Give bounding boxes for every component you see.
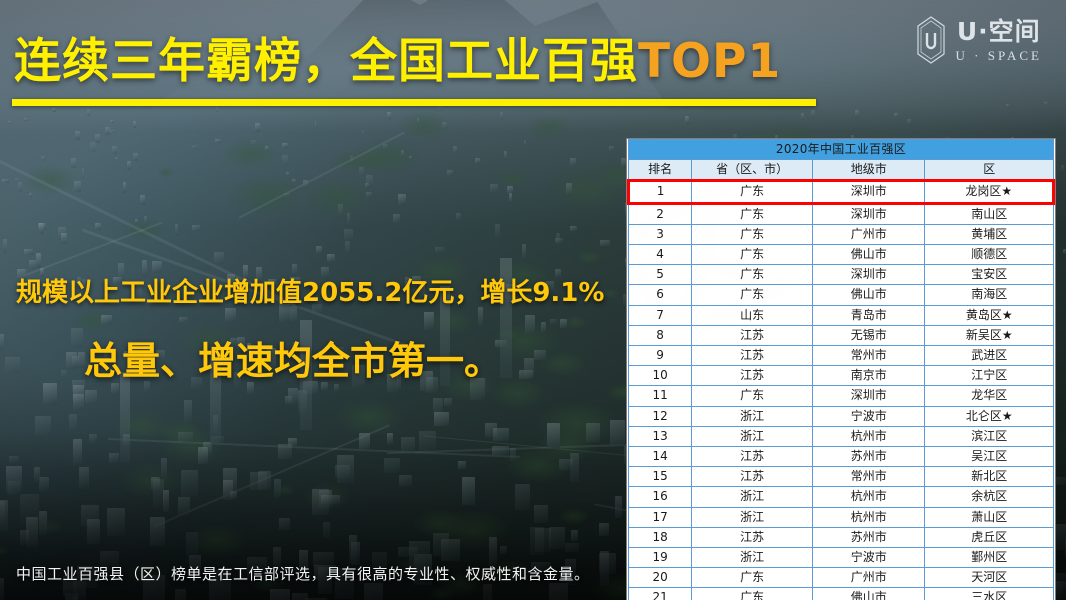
cell-rank: 10	[629, 366, 692, 386]
cell-rank: 16	[629, 487, 692, 507]
cell-district: 黄岛区★	[925, 305, 1054, 325]
rank-table-container: 区 2020年中国工业百强区 排名 省（区、市） 地级市 区 1广东深圳市龙岗区…	[626, 138, 1056, 600]
cell-city: 深圳市	[813, 203, 925, 224]
cell-city: 青岛市	[813, 305, 925, 325]
cell-district: 南山区	[925, 203, 1054, 224]
cell-district: 虎丘区	[925, 527, 1054, 547]
table-row: 9江苏常州市武进区	[629, 346, 1054, 366]
u-space-monogram-icon	[916, 16, 946, 64]
cell-rank: 17	[629, 507, 692, 527]
cell-province: 广东	[692, 181, 813, 203]
page-title-accent: TOP1	[638, 34, 781, 89]
cell-province: 广东	[692, 568, 813, 588]
cell-province: 山东	[692, 305, 813, 325]
cell-rank: 19	[629, 548, 692, 568]
cell-rank: 11	[629, 386, 692, 406]
stat-emphasis: 总量、增速均全市第一。	[84, 330, 502, 385]
cell-district: 江宁区	[925, 366, 1054, 386]
cell-city: 杭州市	[813, 426, 925, 446]
cell-rank: 21	[629, 588, 692, 600]
table-row: 10江苏南京市江宁区	[629, 366, 1054, 386]
cell-province: 江苏	[692, 325, 813, 345]
cell-rank: 12	[629, 406, 692, 426]
table-row: 11广东深圳市龙华区	[629, 386, 1054, 406]
cell-district: 鄞州区	[925, 548, 1054, 568]
column-header-rank: 排名	[629, 160, 692, 181]
cell-rank: 5	[629, 265, 692, 285]
slide-root: 连续三年霸榜，全国工业百强TOP1 U·空间 U · SPACE 规模以上工业企…	[0, 0, 1066, 600]
cell-district: 武进区	[925, 346, 1054, 366]
cell-district: 新吴区★	[925, 325, 1054, 345]
cell-province: 浙江	[692, 426, 813, 446]
cell-district: 三水区	[925, 588, 1054, 600]
cell-district: 顺德区	[925, 245, 1054, 265]
cell-district: 宝安区	[925, 265, 1054, 285]
cell-city: 深圳市	[813, 265, 925, 285]
table-row: 8江苏无锡市新吴区★	[629, 325, 1054, 345]
table-row: 16浙江杭州市余杭区	[629, 487, 1054, 507]
table-row: 21广东佛山市三水区	[629, 588, 1054, 600]
cell-district: 天河区	[925, 568, 1054, 588]
column-header-city: 地级市	[813, 160, 925, 181]
cell-city: 佛山市	[813, 245, 925, 265]
cell-province: 江苏	[692, 467, 813, 487]
cell-city: 宁波市	[813, 406, 925, 426]
column-header-district: 区	[925, 160, 1054, 181]
table-row: 3广东广州市黄埔区	[629, 224, 1054, 244]
cell-rank: 20	[629, 568, 692, 588]
cell-rank: 1	[629, 181, 692, 203]
stat-headline: 规模以上工业企业增加值2055.2亿元，增长9.1%	[16, 272, 604, 309]
table-row: 13浙江杭州市滨江区	[629, 426, 1054, 446]
cell-district: 南海区	[925, 285, 1054, 305]
cell-city: 无锡市	[813, 325, 925, 345]
cell-rank: 18	[629, 527, 692, 547]
cell-province: 广东	[692, 203, 813, 224]
cell-province: 江苏	[692, 527, 813, 547]
cell-rank: 6	[629, 285, 692, 305]
cell-province: 江苏	[692, 346, 813, 366]
cell-city: 广州市	[813, 568, 925, 588]
table-row: 12浙江宁波市北仑区★	[629, 406, 1054, 426]
cell-district: 北仑区★	[925, 406, 1054, 426]
cell-province: 浙江	[692, 548, 813, 568]
table-row: 17浙江杭州市萧山区	[629, 507, 1054, 527]
cell-city: 深圳市	[813, 386, 925, 406]
cell-district: 龙岗区★	[925, 181, 1054, 203]
cell-city: 深圳市	[813, 181, 925, 203]
brand-logo: U·空间 U · SPACE	[916, 16, 1042, 64]
cell-province: 江苏	[692, 447, 813, 467]
table-header-row: 排名 省（区、市） 地级市 区	[629, 160, 1054, 181]
cell-city: 南京市	[813, 366, 925, 386]
cell-province: 江苏	[692, 366, 813, 386]
table-row: 4广东佛山市顺德区	[629, 245, 1054, 265]
cell-district: 余杭区	[925, 487, 1054, 507]
cell-rank: 4	[629, 245, 692, 265]
brand-logo-text: U·空间 U · SPACE	[956, 19, 1042, 62]
brand-name-cn: U·空间	[956, 19, 1042, 44]
cell-province: 浙江	[692, 507, 813, 527]
footnote-caption: 中国工业百强县（区）榜单是在工信部评选，具有很高的专业性、权威性和含金量。	[16, 563, 590, 584]
cell-city: 杭州市	[813, 507, 925, 527]
cell-province: 广东	[692, 588, 813, 600]
table-row: 7山东青岛市黄岛区★	[629, 305, 1054, 325]
cell-rank: 14	[629, 447, 692, 467]
cell-district: 萧山区	[925, 507, 1054, 527]
cell-rank: 15	[629, 467, 692, 487]
cell-city: 苏州市	[813, 447, 925, 467]
brand-name-en: U · SPACE	[956, 49, 1042, 62]
cell-city: 佛山市	[813, 285, 925, 305]
cell-city: 常州市	[813, 467, 925, 487]
cell-rank: 2	[629, 203, 692, 224]
cell-rank: 8	[629, 325, 692, 345]
table-title-cell: 2020年中国工业百强区	[629, 140, 1054, 160]
cell-city: 杭州市	[813, 487, 925, 507]
page-title-main: 连续三年霸榜，全国工业百强	[14, 34, 638, 89]
cell-rank: 9	[629, 346, 692, 366]
column-header-province: 省（区、市）	[692, 160, 813, 181]
cell-province: 广东	[692, 285, 813, 305]
cell-rank: 7	[629, 305, 692, 325]
table-row: 19浙江宁波市鄞州区	[629, 548, 1054, 568]
cell-district: 滨江区	[925, 426, 1054, 446]
cell-province: 浙江	[692, 406, 813, 426]
cell-city: 广州市	[813, 224, 925, 244]
table-row: 15江苏常州市新北区	[629, 467, 1054, 487]
cell-city: 常州市	[813, 346, 925, 366]
table-row: 18江苏苏州市虎丘区	[629, 527, 1054, 547]
cell-province: 浙江	[692, 487, 813, 507]
cell-province: 广东	[692, 265, 813, 285]
cell-district: 黄埔区	[925, 224, 1054, 244]
title-underline-rule	[12, 99, 816, 106]
table-row: 6广东佛山市南海区	[629, 285, 1054, 305]
cell-city: 苏州市	[813, 527, 925, 547]
table-row-highlighted: 1广东深圳市龙岗区★	[629, 181, 1054, 203]
cell-district: 新北区	[925, 467, 1054, 487]
table-row: 2广东深圳市南山区	[629, 203, 1054, 224]
cell-province: 广东	[692, 224, 813, 244]
rank-table: 2020年中国工业百强区 排名 省（区、市） 地级市 区 1广东深圳市龙岗区★2…	[627, 139, 1055, 600]
table-row: 20广东广州市天河区	[629, 568, 1054, 588]
cell-district: 吴江区	[925, 447, 1054, 467]
cell-district: 龙华区	[925, 386, 1054, 406]
cell-rank: 3	[629, 224, 692, 244]
cell-province: 广东	[692, 245, 813, 265]
cell-rank: 13	[629, 426, 692, 446]
cell-city: 佛山市	[813, 588, 925, 600]
cell-city: 宁波市	[813, 548, 925, 568]
table-row: 5广东深圳市宝安区	[629, 265, 1054, 285]
page-title: 连续三年霸榜，全国工业百强TOP1	[14, 22, 781, 91]
cell-province: 广东	[692, 386, 813, 406]
table-row: 14江苏苏州市吴江区	[629, 447, 1054, 467]
table-title-row: 2020年中国工业百强区	[629, 140, 1054, 160]
